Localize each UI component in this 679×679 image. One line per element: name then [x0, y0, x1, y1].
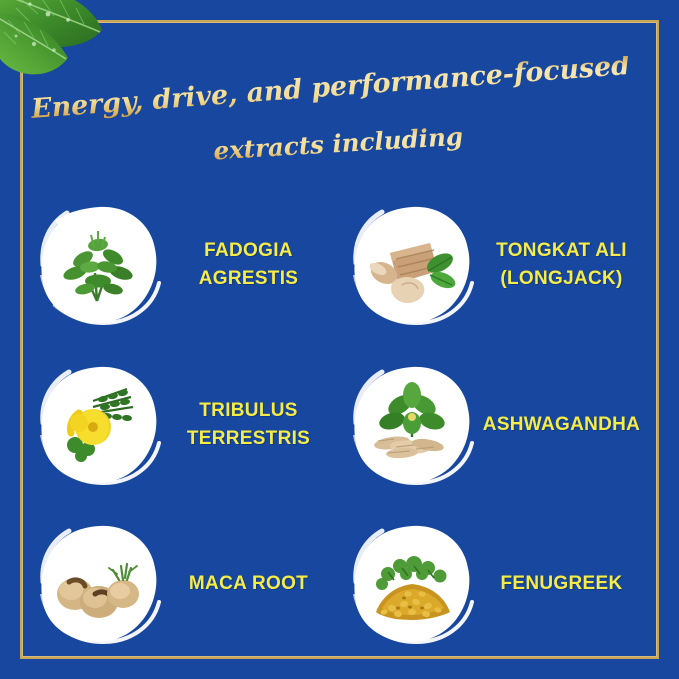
ingredient-item-maca-root: MACA ROOT: [30, 509, 340, 659]
ingredient-label-line-2: (LONGJACK): [476, 265, 647, 293]
ingredient-item-fadogia-agrestis: FADOGIA AGRESTIS: [30, 190, 340, 340]
ashwagandha-root-icon: [348, 361, 476, 489]
ingredient-grid: FADOGIA AGRESTIS: [30, 190, 650, 650]
ingredient-label: FENUGREEK: [476, 570, 653, 598]
ingredient-item-fenugreek: FENUGREEK: [343, 509, 653, 659]
ingredient-label-line-2: TERRESTRIS: [163, 425, 334, 453]
ingredient-label-line-1: MACA ROOT: [189, 573, 308, 594]
yellow-flower-icon: [35, 361, 163, 489]
ingredient-label: TRIBULUS TERRESTRIS: [163, 397, 340, 453]
ingredient-label-line-1: TONGKAT ALI: [496, 240, 627, 261]
ingredient-label: MACA ROOT: [163, 570, 340, 598]
ingredient-label-line-1: FENUGREEK: [501, 573, 623, 594]
product-infographic: Energy, drive, and performance-focused e…: [0, 0, 679, 679]
ingredient-item-tongkat-ali: TONGKAT ALI (LONGJACK): [343, 190, 653, 340]
root-wood-icon: [348, 201, 476, 329]
herb-bush-icon: [35, 201, 163, 329]
fenugreek-seeds-icon: [348, 520, 476, 648]
headline: Energy, drive, and performance-focused e…: [0, 56, 679, 176]
ingredient-label-line-2: AGRESTIS: [163, 265, 334, 293]
ingredient-label: ASHWAGANDHA: [476, 411, 653, 439]
ingredient-label: FADOGIA AGRESTIS: [163, 237, 340, 293]
headline-line-2: extracts including: [213, 122, 464, 166]
ingredient-label-line-1: FADOGIA: [204, 240, 293, 261]
ingredient-label: TONGKAT ALI (LONGJACK): [476, 237, 653, 293]
ingredient-item-tribulus-terrestris: TRIBULUS TERRESTRIS: [30, 350, 340, 500]
ingredient-item-ashwagandha: ASHWAGANDHA: [343, 350, 653, 500]
ingredient-label-line-1: ASHWAGANDHA: [483, 414, 640, 435]
headline-line-1: Energy, drive, and performance-focused: [29, 56, 631, 125]
ingredient-label-line-1: TRIBULUS: [199, 400, 297, 421]
maca-tuber-icon: [35, 520, 163, 648]
